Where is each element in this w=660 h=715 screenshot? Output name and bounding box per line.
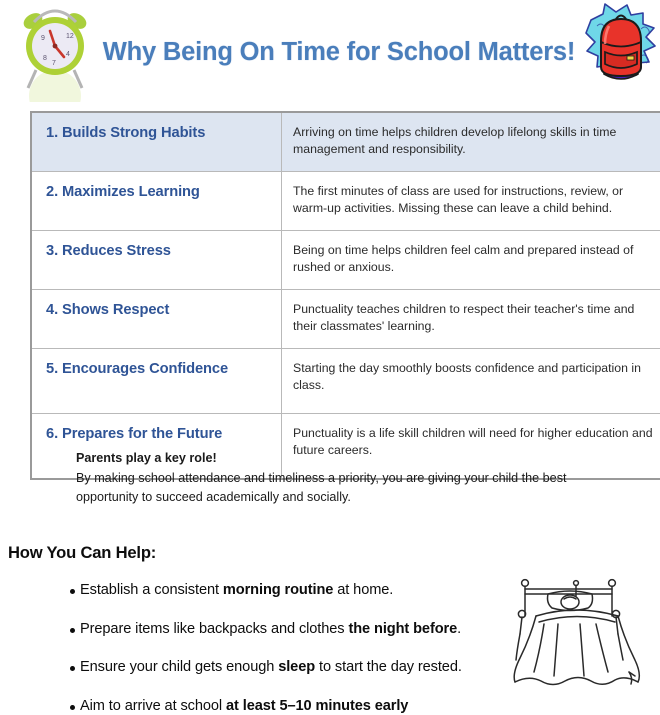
bullet-dot-icon — [70, 666, 75, 671]
help-item-text-bold: morning routine — [223, 582, 333, 598]
help-item-text-after: to start the day rested. — [315, 659, 462, 675]
page-title-text: Why Being On Time for School Matters! — [103, 38, 575, 67]
table-row: 4. Shows Respect Punctuality teaches chi… — [31, 290, 660, 349]
help-item-text-after: . — [457, 621, 461, 637]
reason-description: Starting the day smoothly boosts confide… — [282, 349, 660, 414]
parents-note-body: By making school attendance and timeline… — [76, 469, 616, 507]
alarm-clock-icon: 12 9 8 7 4 — [14, 2, 96, 102]
table-row: 1. Builds Strong Habits Arriving on time… — [31, 112, 660, 172]
reason-description: Being on time helps children feel calm a… — [282, 231, 660, 290]
table-row: 3. Reduces Stress Being on time helps ch… — [31, 231, 660, 290]
bullet-dot-icon — [70, 705, 75, 710]
reason-title: 2. Maximizes Learning — [31, 172, 282, 231]
help-item-text-before: Prepare items like backpacks and clothes — [80, 621, 348, 637]
bullet-dot-icon — [70, 628, 75, 633]
svg-text:8: 8 — [43, 55, 47, 62]
list-item: Aim to arrive at school at least 5–10 mi… — [8, 698, 660, 715]
svg-text:7: 7 — [52, 60, 56, 67]
reason-description: The first minutes of class are used for … — [282, 172, 660, 231]
parents-note-heading: Parents play a key role! — [76, 449, 616, 468]
list-item: Ensure your child gets enough sleep to s… — [8, 659, 660, 677]
reason-title: 4. Shows Respect — [31, 290, 282, 349]
table-row: 5. Encourages Confidence Starting the da… — [31, 349, 660, 414]
bullet-dot-icon — [70, 589, 75, 594]
help-item-text-before: Ensure your child gets enough — [80, 659, 278, 675]
help-item-text-bold: at least 5–10 minutes early — [226, 698, 408, 714]
reason-description: Arriving on time helps children develop … — [282, 112, 660, 172]
page-title: Why Being On Time for School Matters! — [100, 0, 578, 104]
reason-title: 5. Encourages Confidence — [31, 349, 282, 414]
reasons-table: 1. Builds Strong Habits Arriving on time… — [30, 111, 660, 480]
help-list: Establish a consistent morning routine a… — [8, 582, 660, 715]
svg-text:12: 12 — [66, 33, 74, 40]
how-you-can-help-section: How You Can Help: Establish a consistent… — [8, 543, 660, 715]
svg-text:4: 4 — [66, 51, 70, 58]
list-item: Prepare items like backpacks and clothes… — [8, 621, 660, 639]
help-item-text-bold: sleep — [278, 659, 315, 675]
parents-note: Parents play a key role! By making schoo… — [76, 449, 616, 507]
reason-description: Punctuality teaches children to respect … — [282, 290, 660, 349]
reason-title: 3. Reduces Stress — [31, 231, 282, 290]
help-item-text-bold: the night before — [348, 621, 457, 637]
help-item-text-after: at home. — [333, 582, 393, 598]
table-row: 2. Maximizes Learning The first minutes … — [31, 172, 660, 231]
svg-text:9: 9 — [41, 35, 45, 42]
page-header: 12 9 8 7 4 Why Being On Time for School … — [0, 0, 660, 104]
list-item: Establish a consistent morning routine a… — [8, 582, 660, 600]
help-section-heading: How You Can Help: — [8, 543, 660, 563]
help-item-text-before: Aim to arrive at school — [80, 698, 226, 714]
help-item-text-before: Establish a consistent — [80, 582, 223, 598]
backpack-icon — [583, 2, 659, 94]
reason-title: 1. Builds Strong Habits — [31, 112, 282, 172]
